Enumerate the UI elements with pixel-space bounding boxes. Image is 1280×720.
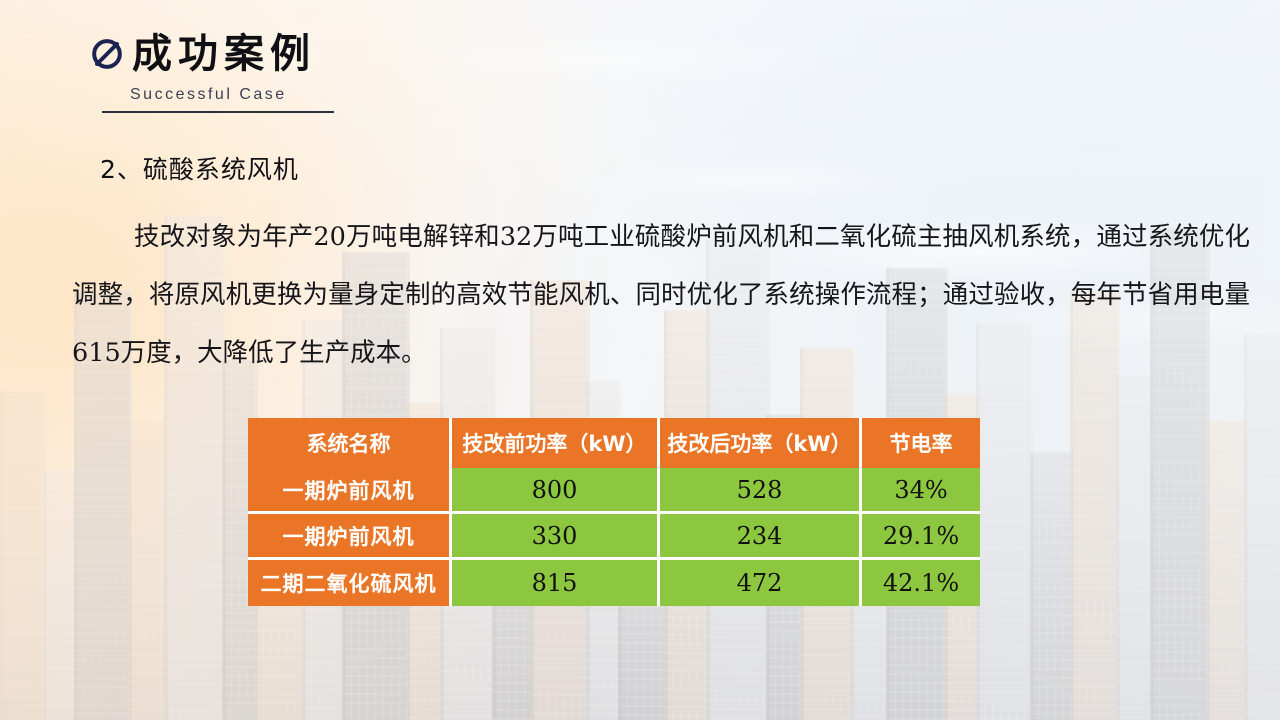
column-header-power-before: 技改前功率（kW）: [452, 418, 660, 468]
cell-power-after: 472: [660, 560, 862, 606]
cell-power-before: 800: [452, 468, 660, 514]
null-slash-circle-icon: [88, 35, 126, 73]
power-comparison-table: 系统名称 技改前功率（kW） 技改后功率（kW） 节电率 一期炉前风机 800 …: [248, 418, 980, 606]
slide-content: 成功案例 Successful Case 2、硫酸系统风机 技改对象为年产20万…: [0, 0, 1280, 720]
title-divider: [102, 111, 334, 113]
column-header-power-after: 技改后功率（kW）: [660, 418, 862, 468]
table-header-row: 系统名称 技改前功率（kW） 技改后功率（kW） 节电率: [248, 418, 980, 468]
title-block: 成功案例 Successful Case: [88, 34, 334, 113]
table-row: 一期炉前风机 800 528 34%: [248, 468, 980, 514]
table-body: 一期炉前风机 800 528 34% 一期炉前风机 330 234 29.1% …: [248, 468, 980, 606]
cell-saving-rate: 29.1%: [862, 514, 980, 560]
body-paragraph: 技改对象为年产20万吨电解锌和32万吨工业硫酸炉前风机和二氧化硫主抽风机系统，通…: [72, 208, 1250, 382]
section-heading: 2、硫酸系统风机: [100, 150, 299, 186]
cell-system-name: 一期炉前风机: [248, 468, 452, 514]
cell-saving-rate: 34%: [862, 468, 980, 514]
table-header: 系统名称 技改前功率（kW） 技改后功率（kW） 节电率: [248, 418, 980, 468]
page-title: 成功案例: [132, 34, 316, 74]
title-row: 成功案例: [88, 34, 334, 74]
cell-power-before: 815: [452, 560, 660, 606]
cell-saving-rate: 42.1%: [862, 560, 980, 606]
cell-power-before: 330: [452, 514, 660, 560]
slide-canvas: 成功案例 Successful Case 2、硫酸系统风机 技改对象为年产20万…: [0, 0, 1280, 720]
cell-power-after: 528: [660, 468, 862, 514]
column-header-saving-rate: 节电率: [862, 418, 980, 468]
cell-system-name: 二期二氧化硫风机: [248, 560, 452, 606]
column-header-system-name: 系统名称: [248, 418, 452, 468]
cell-power-after: 234: [660, 514, 862, 560]
page-subtitle: Successful Case: [130, 86, 334, 104]
table-row: 二期二氧化硫风机 815 472 42.1%: [248, 560, 980, 606]
cell-system-name: 一期炉前风机: [248, 514, 452, 560]
table-row: 一期炉前风机 330 234 29.1%: [248, 514, 980, 560]
